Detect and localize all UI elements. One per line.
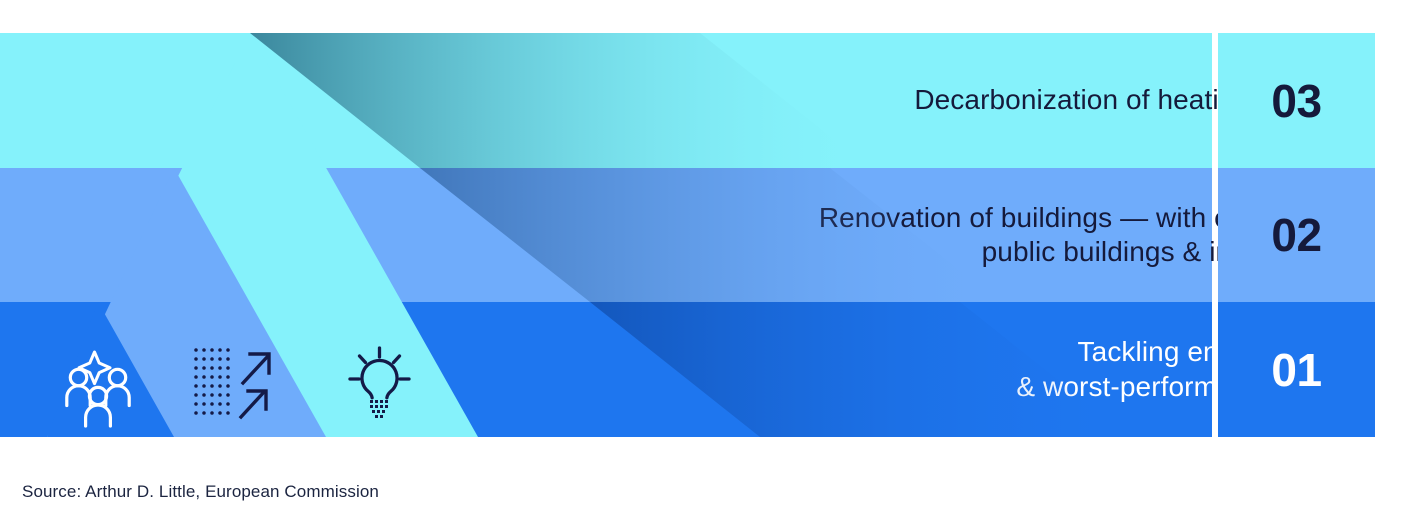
row-02-number: 02 xyxy=(1218,168,1375,302)
pyramid-row-03: Decarbonization of heating & cooling 03 xyxy=(0,33,1404,168)
row-03-number: 03 xyxy=(1218,33,1375,168)
pyramid-row-02: Renovation of buildings — with emphasis … xyxy=(0,168,1404,302)
row-01-number: 01 xyxy=(1218,302,1375,437)
infographic-canvas: Decarbonization of heating & cooling 03 … xyxy=(0,0,1404,524)
pyramid-row-01: Tackling energy poverty & worst-performi… xyxy=(0,302,1404,437)
row-01-number-cell: 01 xyxy=(1218,302,1375,437)
source-note: Source: Arthur D. Little, European Commi… xyxy=(22,482,379,502)
row-02-number-cell: 02 xyxy=(1218,168,1375,302)
row-03-number-cell: 03 xyxy=(1218,33,1375,168)
